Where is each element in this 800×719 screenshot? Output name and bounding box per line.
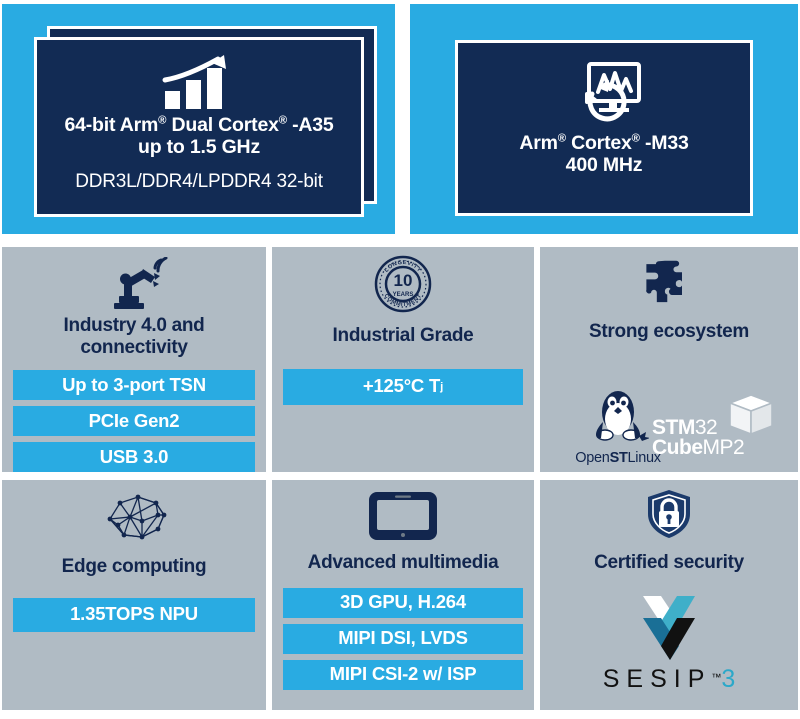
feature-title-advanced-multimedia: Advanced multimedia bbox=[283, 552, 523, 574]
feature-band-npu: 1.35TOPS NPU bbox=[13, 598, 255, 632]
card-cortex-m33: Arm® Cortex® -M33 400 MHz bbox=[455, 40, 753, 216]
svg-text:10: 10 bbox=[394, 271, 413, 290]
feature-title-edge-computing: Edge computing bbox=[19, 556, 249, 578]
registered-mark: ® bbox=[632, 133, 640, 145]
card-title-line2: 400 MHz bbox=[566, 154, 643, 176]
shield-lock-icon bbox=[644, 488, 694, 540]
product-feature-board: 64-bit Arm® Dual Cortex® -A35 up to 1.5 … bbox=[0, 0, 800, 719]
feature-band-dsi: MIPI DSI, LVDS bbox=[283, 624, 523, 654]
cubemp2-line: CubeMP2 bbox=[652, 438, 792, 458]
feature-band-usb: USB 3.0 bbox=[13, 442, 255, 472]
feature-band-pcie: PCIe Gen2 bbox=[13, 406, 255, 436]
feature-card-certified-security: Certified security SESIP™3 bbox=[540, 480, 798, 710]
card-title-line2: up to 1.5 GHz bbox=[138, 136, 260, 158]
feature-title-industry40: Industry 4.0 and connectivity bbox=[39, 315, 229, 358]
feature-card-industrial-grade: 10 YEARS LONGEVITY COMMITMENT Industrial… bbox=[272, 247, 534, 472]
sesip-level: 3 bbox=[721, 665, 735, 693]
feature-card-edge-computing: Edge computing 1.35TOPS NPU bbox=[2, 480, 266, 710]
top-panel-cortex-m33: Arm® Cortex® -M33 400 MHz bbox=[410, 4, 798, 234]
feature-title-strong-ecosystem: Strong ecosystem bbox=[554, 321, 784, 343]
tablet-display-icon bbox=[365, 490, 441, 542]
sesip-wordmark: SESIP bbox=[603, 665, 712, 694]
trademark-mark: ™ bbox=[711, 673, 721, 684]
growth-bar-chart-icon bbox=[162, 53, 236, 111]
feature-title-industrial-grade: Industrial Grade bbox=[293, 325, 513, 347]
registered-mark: ® bbox=[558, 133, 566, 145]
feature-title-certified-security: Certified security bbox=[554, 552, 784, 574]
svg-text:YEARS: YEARS bbox=[393, 292, 414, 298]
card-title-cortex-m33: Arm® Cortex® -M33 400 MHz bbox=[519, 133, 688, 177]
longevity-10-years-badge-icon: 10 YEARS LONGEVITY COMMITMENT bbox=[374, 255, 432, 313]
card-title-cortex-a35: 64-bit Arm® Dual Cortex® -A35 up to 1.5 … bbox=[64, 115, 333, 159]
feature-band-tsn: Up to 3-port TSN bbox=[13, 370, 255, 400]
band-text: +125°C T bbox=[363, 377, 440, 396]
registered-mark: ® bbox=[279, 115, 287, 127]
stm32cubemp2-logo: STM32 CubeMP2 bbox=[652, 418, 792, 458]
puzzle-pieces-icon bbox=[638, 255, 700, 311]
brain-network-icon bbox=[96, 490, 172, 546]
feature-band-csi: MIPI CSI-2 w/ ISP bbox=[283, 660, 523, 690]
feature-card-strong-ecosystem: Strong ecosystem OpenSTL bbox=[540, 247, 798, 472]
feature-card-industry40: Industry 4.0 and connectivity Up to 3-po… bbox=[2, 247, 266, 472]
feature-band-gpu: 3D GPU, H.264 bbox=[283, 588, 523, 618]
card-subtitle-memory: DDR3L/DDR4/LPDDR4 32-bit bbox=[75, 171, 323, 193]
feature-card-advanced-multimedia: Advanced multimedia 3D GPU, H.264 MIPI D… bbox=[272, 480, 534, 710]
feature-band-temperature: +125°C Tj bbox=[283, 369, 523, 405]
card-cortex-a35: 64-bit Arm® Dual Cortex® -A35 up to 1.5 … bbox=[34, 37, 364, 217]
monitor-waveform-clock-icon bbox=[565, 61, 643, 123]
sesip-logo: SESIP™3 bbox=[540, 665, 798, 694]
top-panel-cortex-a35: 64-bit Arm® Dual Cortex® -A35 up to 1.5 … bbox=[2, 4, 395, 234]
robot-arm-wireless-icon bbox=[97, 257, 171, 311]
sesip-chevron-mark-icon bbox=[631, 588, 707, 664]
